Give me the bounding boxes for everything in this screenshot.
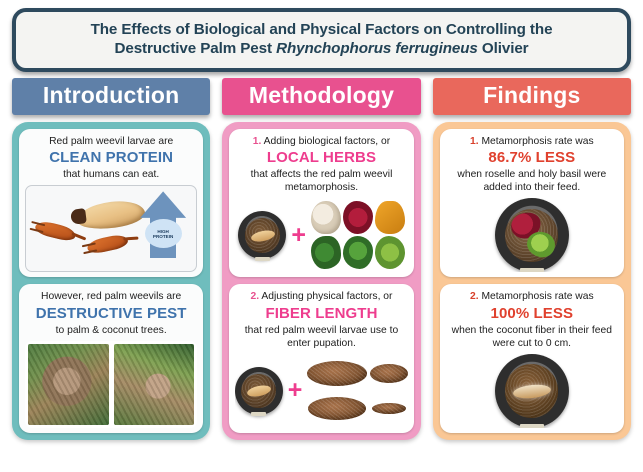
- herbs-grid: [311, 201, 405, 269]
- fiber-pile-icon-3: [308, 397, 366, 420]
- image-feed-plus-herbs: +: [235, 198, 407, 272]
- card-find-2: 2. Metamorphosis rate was 100% LESS when…: [440, 284, 624, 433]
- card-find-1-pre: Metamorphosis rate was: [479, 136, 594, 147]
- card-find-2-number: 2.: [470, 291, 479, 302]
- card-method-2-number: 2.: [251, 291, 260, 302]
- card-method-2-post: that red palm weevil larvae use to enter…: [245, 325, 398, 349]
- column-header-methodology: Methodology: [222, 78, 420, 115]
- card-method-1-text: 1. Adding biological factors, or LOCAL H…: [235, 135, 407, 195]
- larva-scene: HIGH PROTEIN: [26, 186, 196, 271]
- species-name: Rhynchophorus ferrugineus: [276, 40, 478, 57]
- card-intro-1-text: Red palm weevil larvae are CLEAN PROTEIN…: [25, 135, 197, 181]
- image-bowl-zero-fiber-result: [446, 354, 618, 428]
- card-intro-2-text: However, red palm weevils are DESTRUCTIV…: [25, 290, 197, 336]
- card-method-1: 1. Adding biological factors, or LOCAL H…: [229, 129, 413, 278]
- feed-bowl-icon: [238, 211, 286, 259]
- column-introduction: Introduction Red palm weevil larvae are …: [12, 78, 210, 440]
- image-bowl-herbs-result: [446, 198, 618, 272]
- larva-icon: [76, 198, 147, 232]
- green-herb-icon-1: [343, 236, 373, 269]
- result-bowl-icon-1: [495, 198, 569, 272]
- card-method-2-highlight: FIBER LENGTH: [235, 305, 407, 323]
- garlic-icon: [311, 201, 341, 234]
- card-find-1-number: 1.: [470, 136, 479, 147]
- title-bar: The Effects of Biological and Physical F…: [12, 8, 631, 72]
- weevil-icon-1: [33, 219, 76, 242]
- column-body-introduction: Red palm weevil larvae are CLEAN PROTEIN…: [12, 122, 210, 440]
- feed-herbs-scene: +: [235, 198, 407, 272]
- card-intro-1-post: that humans can eat.: [63, 169, 159, 180]
- image-larva-weevils-protein: HIGH PROTEIN: [25, 185, 197, 272]
- palm-damage-photo-2: [114, 344, 195, 425]
- palm-photo-pair: [25, 341, 197, 428]
- turmeric-icon: [375, 201, 405, 234]
- title-line-1: The Effects of Biological and Physical F…: [30, 20, 613, 39]
- high-protein-badge: HIGH PROTEIN: [145, 219, 182, 248]
- title-line-2-post: Olivier: [478, 40, 529, 57]
- result-bowl-icon-2: [495, 354, 569, 428]
- card-find-1-highlight: 86.7% LESS: [446, 149, 618, 167]
- card-intro-1-highlight: CLEAN PROTEIN: [25, 149, 197, 167]
- card-intro-1-pre: Red palm weevil larvae are: [49, 136, 173, 147]
- palm-damage-photo-1: [28, 344, 109, 425]
- infographic-page: The Effects of Biological and Physical F…: [0, 0, 643, 472]
- card-method-1-highlight: LOCAL HERBS: [235, 149, 407, 167]
- card-method-2-text: 2. Adjusting physical factors, or FIBER …: [235, 290, 407, 350]
- fiber-pile-icon-2: [370, 364, 407, 383]
- card-method-1-post: that affects the red palm weevil metamor…: [251, 169, 393, 193]
- title-line-2-pre: Destructive Palm Pest: [115, 40, 277, 57]
- card-find-2-text: 2. Metamorphosis rate was 100% LESS when…: [446, 290, 618, 350]
- column-methodology: Methodology 1. Adding biological factors…: [222, 78, 420, 440]
- card-method-2: 2. Adjusting physical factors, or FIBER …: [229, 284, 413, 433]
- green-herb-icon-2: [375, 236, 405, 269]
- fiber-pile-icon-4: [372, 403, 406, 414]
- weevil-icon-2: [86, 233, 129, 255]
- card-method-2-pre: Adjusting physical factors, or: [259, 291, 392, 302]
- coconut-fiber-piles: [307, 357, 407, 425]
- column-findings: Findings 1. Metamorphosis rate was 86.7%…: [433, 78, 631, 440]
- card-find-1-post: when roselle and holy basil were added i…: [457, 169, 606, 193]
- fiber-pile-icon-1: [307, 361, 367, 386]
- feed-bowl-icon-2: [235, 367, 282, 415]
- card-intro-2: However, red palm weevils are DESTRUCTIV…: [19, 284, 203, 433]
- image-feed-plus-fibers: +: [235, 354, 407, 428]
- card-intro-2-pre: However, red palm weevils are: [41, 291, 181, 302]
- column-body-findings: 1. Metamorphosis rate was 86.7% LESS whe…: [433, 122, 631, 440]
- card-find-1: 1. Metamorphosis rate was 86.7% LESS whe…: [440, 129, 624, 278]
- columns-container: Introduction Red palm weevil larvae are …: [8, 78, 635, 440]
- card-find-1-text: 1. Metamorphosis rate was 86.7% LESS whe…: [446, 135, 618, 195]
- plus-icon: +: [291, 223, 306, 248]
- column-body-methodology: 1. Adding biological factors, or LOCAL H…: [222, 122, 420, 440]
- card-intro-2-post: to palm & coconut trees.: [56, 325, 167, 336]
- image-damaged-palms: [25, 341, 197, 428]
- badge-line-2: PROTEIN: [153, 234, 173, 239]
- title-line-2: Destructive Palm Pest Rhynchophorus ferr…: [30, 39, 613, 58]
- card-method-1-pre: Adding biological factors, or: [261, 136, 390, 147]
- card-find-2-pre: Metamorphosis rate was: [479, 291, 594, 302]
- up-arrow-icon: HIGH PROTEIN: [140, 191, 186, 257]
- column-header-findings: Findings: [433, 78, 631, 115]
- card-find-2-post: when the coconut fiber in their feed wer…: [452, 325, 612, 349]
- card-find-2-highlight: 100% LESS: [446, 305, 618, 323]
- holy-basil-icon: [311, 236, 341, 269]
- column-header-introduction: Introduction: [12, 78, 210, 115]
- feed-fiber-scene: +: [235, 354, 407, 428]
- card-intro-1: Red palm weevil larvae are CLEAN PROTEIN…: [19, 129, 203, 278]
- roselle-icon: [343, 201, 373, 234]
- card-intro-2-highlight: DESTRUCTIVE PEST: [25, 305, 197, 323]
- plus-icon-2: +: [288, 378, 303, 403]
